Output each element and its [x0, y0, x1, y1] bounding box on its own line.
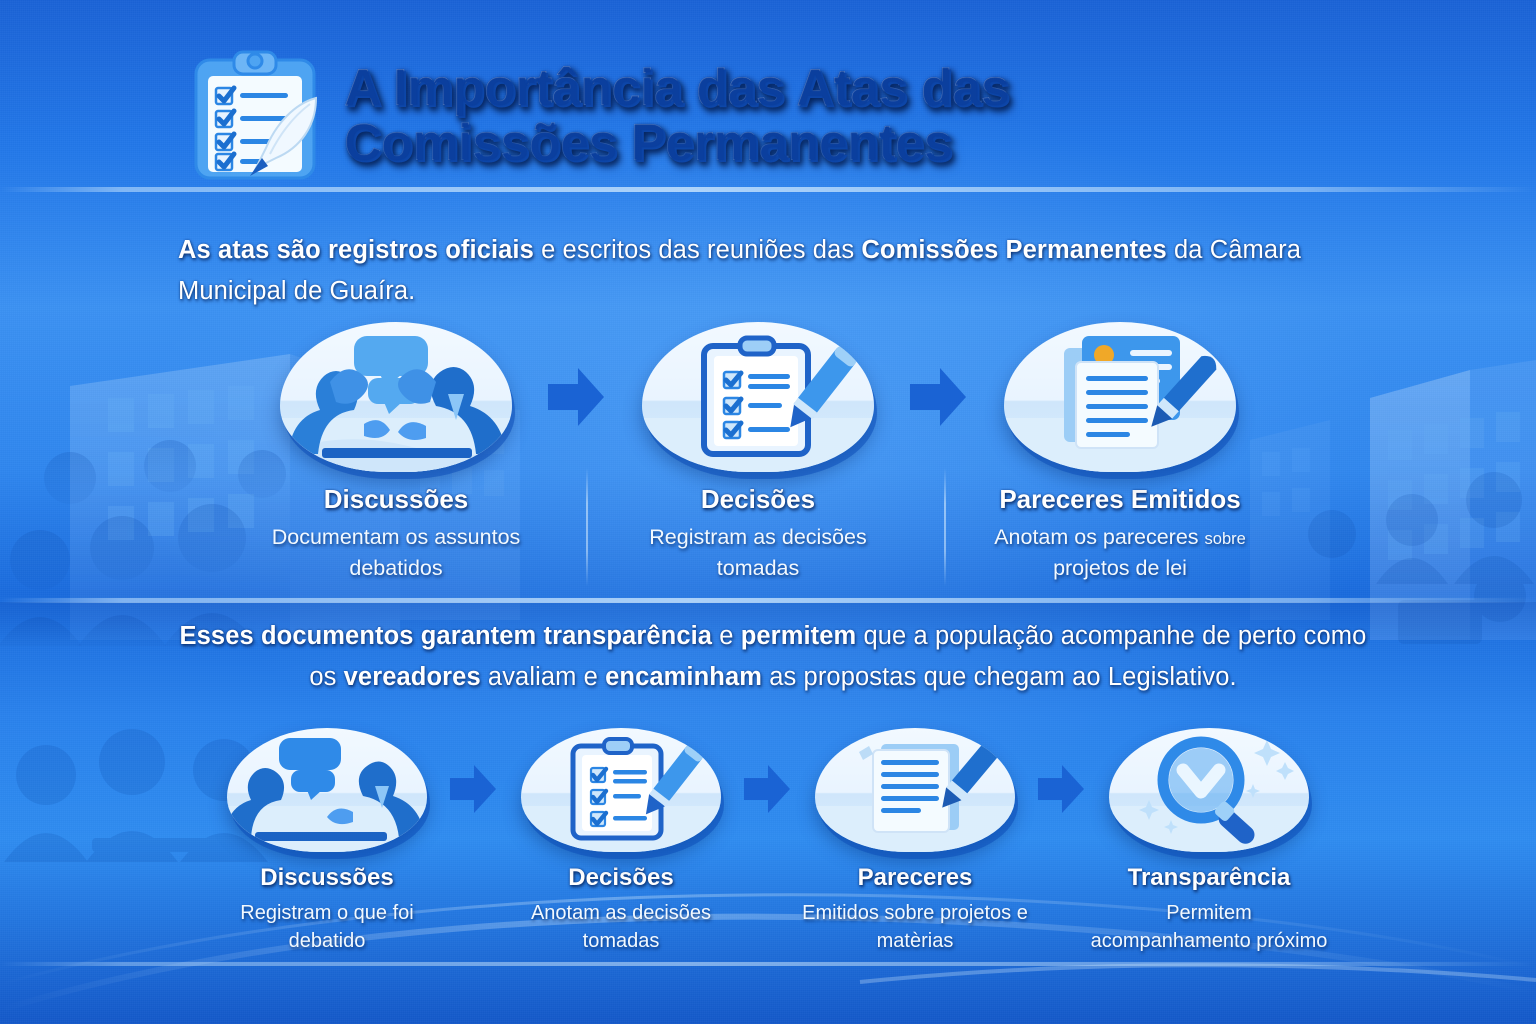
card-description: Registram as decisões tomadas [608, 522, 908, 583]
card-description-small: sobre [1205, 530, 1246, 548]
icon-frame [1109, 728, 1309, 852]
mid-divider [0, 598, 1536, 603]
icon-frame [227, 728, 427, 852]
page-header: A Importância das Atas das Comissões Per… [190, 44, 1370, 184]
arrow-right-icon [448, 728, 500, 852]
card-description: Registram o que foi debatido [206, 899, 448, 956]
icon-frame [815, 728, 1015, 852]
card-title: Transparência [1128, 864, 1291, 892]
arrow-right-icon [546, 322, 608, 472]
mid-bold-2: permitem [741, 622, 857, 650]
card-pareceres-emitidos-top: Pareceres Emitidos Anotam os pareceres s… [970, 322, 1270, 583]
arrow-right-icon [1036, 728, 1088, 852]
intro-bold-1: As atas são registros oficiais [178, 236, 534, 264]
card-title: Pareceres [858, 864, 973, 892]
infographic-canvas: A Importância das Atas das Comissões Per… [0, 0, 1536, 1024]
mid-bold-4: encaminham [605, 663, 762, 691]
document-pen-icon [1004, 322, 1236, 472]
middle-paragraph: Esses documentos garantem transparência … [168, 616, 1378, 699]
card-description: Emitidos sobre projetos e matèrias [794, 899, 1036, 956]
card-title: Pareceres Emitidos [999, 484, 1240, 515]
mid-bold-3: vereadores [344, 663, 481, 691]
mid-text-1: e [712, 622, 741, 650]
mid-text-3: avaliam e [481, 663, 605, 691]
clipboard-checklist-pen-icon [521, 728, 721, 852]
process-row-top: Discussões Documentam os assuntos debati… [246, 322, 1300, 583]
card-decisoes-bottom: Decisões Anotam as decisões tomadas [500, 728, 742, 956]
process-row-bottom: Discussões Registram o que foi debatido [206, 728, 1330, 956]
clipboard-checklist-pen-icon [642, 322, 874, 472]
arrow-right-icon [742, 728, 794, 852]
card-title: Decisões [701, 484, 815, 515]
discussion-people-icon [280, 322, 512, 472]
card-description-main: Anotam os pareceres [994, 525, 1204, 549]
page-title: A Importância das Atas das Comissões Per… [344, 57, 1009, 170]
card-description: Documentam os assuntos debatidos [246, 522, 546, 583]
title-line-1: A Importância das Atas das [344, 59, 1009, 117]
title-line-2: Comissões Permanentes [344, 116, 1009, 171]
intro-paragraph: As atas são registros oficiais e escrito… [178, 230, 1358, 313]
mid-text-4: as propostas que chegam ao Legislativo. [762, 663, 1237, 691]
card-title: Discussões [324, 484, 469, 515]
title-divider [0, 187, 1536, 192]
magnifier-check-icon [1109, 728, 1309, 852]
card-title: Decisões [568, 864, 673, 892]
card-transparencia-bottom: Transparência Permitem acompanhamento pr… [1088, 728, 1330, 956]
card-discussoes-top: Discussões Documentam os assuntos debati… [246, 322, 546, 583]
card-title: Discussões [260, 864, 393, 892]
card-pareceres-bottom: Pareceres Emitidos sobre projetos e matè… [794, 728, 1036, 956]
bottom-divider [0, 962, 1536, 966]
card-description: Anotam os pareceres sobre projetos de le… [970, 522, 1270, 583]
card-description: Permitem acompanhamento próximo [1088, 899, 1330, 956]
card-divider [586, 468, 588, 586]
intro-bold-2: Comissões Permanentes [861, 236, 1166, 264]
card-description: Anotam as decisões tomadas [500, 899, 742, 956]
icon-frame [1004, 322, 1236, 472]
mid-bold-1: Esses documentos garantem transparência [180, 622, 713, 650]
card-divider [944, 468, 946, 586]
card-discussoes-bottom: Discussões Registram o que foi debatido [206, 728, 448, 956]
icon-frame [642, 322, 874, 472]
card-description-tail: projetos de lei [1053, 556, 1187, 580]
clipboard-quill-icon [190, 46, 322, 182]
arrow-right-icon [908, 322, 970, 472]
discussion-people-icon [227, 728, 427, 852]
document-pen-icon [815, 728, 1015, 852]
icon-frame [521, 728, 721, 852]
icon-frame [280, 322, 512, 472]
card-decisoes-top: Decisões Registram as decisões tomadas [608, 322, 908, 583]
intro-text-1: e escritos das reuniões das [534, 236, 862, 264]
